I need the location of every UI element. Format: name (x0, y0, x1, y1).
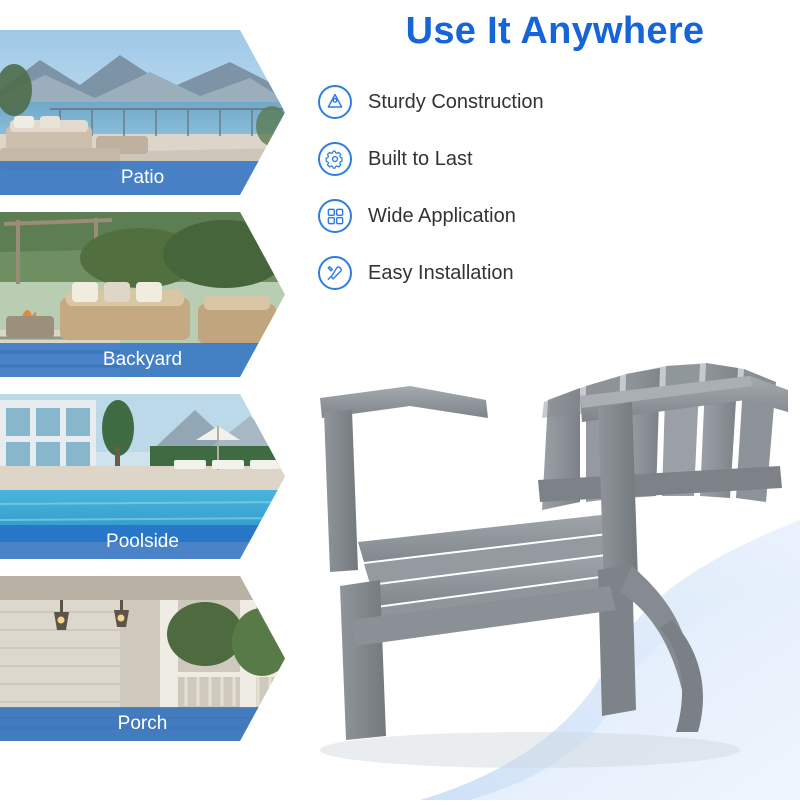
scene-card-backyard: Backyard (0, 212, 285, 377)
scene-caption: Patio (0, 161, 285, 195)
gear-icon (318, 142, 352, 176)
scene-caption: Poolside (0, 525, 285, 559)
page-title: Use It Anywhere (320, 10, 790, 53)
scene-caption: Backyard (0, 343, 285, 377)
feature-label: Sturdy Construction (368, 91, 544, 114)
scene-card-patio: Patio (0, 30, 285, 195)
feature-label: Wide Application (368, 205, 516, 228)
feature-item-sturdy-construction: Sturdy Construction (318, 78, 544, 126)
compass-icon (318, 85, 352, 119)
scene-card-porch: Porch (0, 576, 285, 741)
feature-item-wide-application: Wide Application (318, 192, 544, 240)
grid-icon (318, 199, 352, 233)
feature-label: Built to Last (368, 148, 473, 171)
feature-item-easy-installation: Easy Installation (318, 249, 544, 297)
tools-icon (318, 256, 352, 290)
feature-label: Easy Installation (368, 262, 514, 285)
scene-card-poolside: Poolside (0, 394, 285, 559)
scene-caption: Porch (0, 707, 285, 741)
feature-item-built-to-last: Built to Last (318, 135, 544, 183)
feature-list: Sturdy Construction Built to Last Wide A… (318, 78, 544, 306)
scene-card-list: Patio (0, 30, 290, 758)
